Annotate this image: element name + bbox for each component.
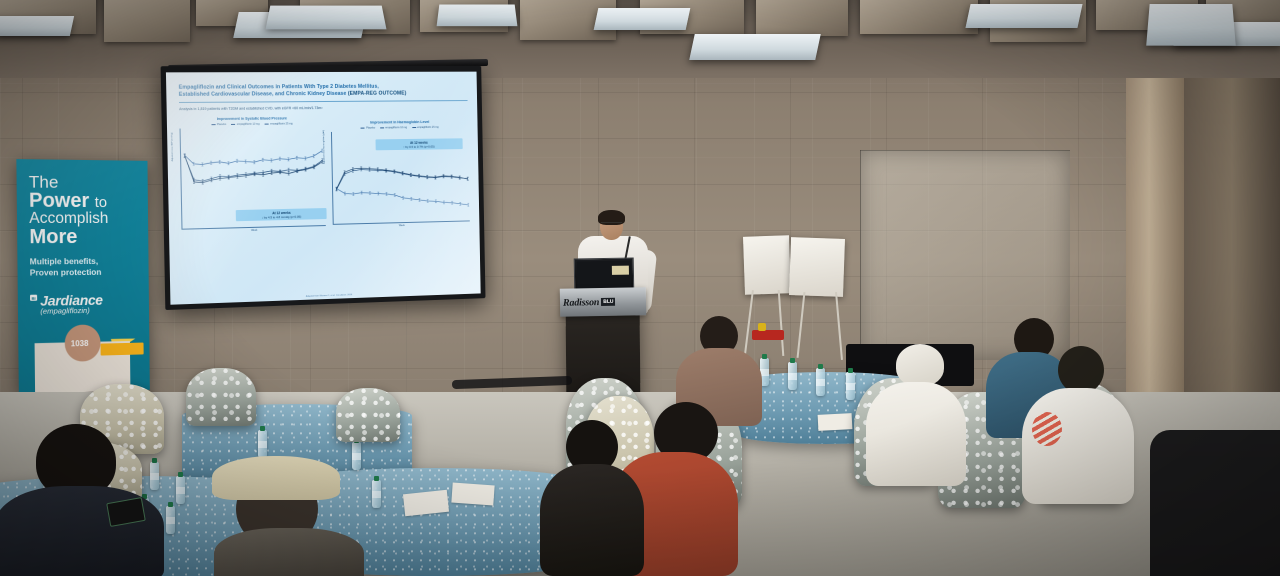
- chart-haemoglobin-level: Improvement in Haemoglobin Level Placebo…: [330, 115, 470, 230]
- chart-left-callout: At 12 weeks ↓ by 4.5 to 4.8 mmHg (p<0.05…: [236, 208, 327, 221]
- water-bottle: [352, 442, 361, 470]
- legend-item-placebo-2: Placebo: [366, 126, 375, 129]
- podium-brand-sign: Radisson BLU: [560, 287, 646, 316]
- chair: [186, 368, 256, 426]
- title-divider: [179, 100, 468, 103]
- slide-title-line1: Empagliflozin and Clinical Outcomes in P…: [179, 84, 379, 91]
- chart-right-callout: At 12 weeks ↑ by 0.6 to 0.7% (p<0.05): [375, 138, 462, 150]
- legend-item-empa10-2: empagliflozin 10 mg: [385, 126, 407, 129]
- ceiling-light-panel: [266, 6, 387, 30]
- water-bottle: [150, 462, 159, 490]
- conference-room-photo: Empagliflozin and Clinical Outcomes in P…: [0, 0, 1280, 576]
- banner-bi-logo: BI: [30, 295, 37, 301]
- notepad: [451, 483, 494, 506]
- chart-left-legend: Placebo empagliflozin 10 mg empagliflozi…: [179, 122, 323, 126]
- slide-charts: Improvement in Systolic Blood Pressure P…: [179, 115, 470, 234]
- slide-title-line2: Established Cardiovascular Disease, and …: [179, 91, 347, 98]
- banner-subline-2: Proven protection: [30, 266, 139, 278]
- chart-systolic-blood-pressure: Improvement in Systolic Blood Pressure P…: [179, 116, 325, 234]
- water-bottle: [816, 368, 825, 396]
- water-bottle: [258, 430, 267, 458]
- legend-item-empa25: empagliflozin 25 mg: [270, 122, 292, 125]
- foreground-shadow: [1150, 430, 1280, 576]
- chart-right-plot: Adjusted mean haemoglobin (g/dL) At 12 w…: [330, 130, 469, 224]
- banner-line-accomplish: Accomplish: [29, 211, 138, 227]
- banner-line-more: More: [29, 227, 138, 247]
- chart-left-ylabel: Adjusted mean SBP (mmHg): [171, 133, 174, 162]
- banner-number: 1038: [71, 339, 89, 348]
- slide-title-study: (EMPA-REG OUTCOME): [348, 91, 407, 97]
- banner-badge: [101, 343, 144, 356]
- water-bottle: [372, 480, 381, 508]
- legend-item-empa10: empagliflozin 10 mg: [237, 123, 260, 126]
- banner-line-power: Power: [29, 190, 89, 212]
- water-bottle: [788, 362, 797, 390]
- chart-left-heading: Improvement in Systolic Blood Pressure: [179, 116, 323, 121]
- chart-left-plot: Adjusted mean SBP (mmHg) At 12 weeks ↓ b…: [180, 127, 326, 230]
- jardiance-rollup-banner: The Power to Accomplish More Multiple be…: [16, 159, 149, 394]
- beige-cap: [212, 456, 340, 500]
- chart-right-heading: Improvement in Haemoglobin Level: [330, 120, 468, 125]
- chart-left-callout-text: ↓ by 4.5 to 4.8 mmHg (p<0.05): [239, 214, 324, 220]
- water-bottle: [166, 506, 175, 534]
- notepad: [818, 413, 853, 431]
- chart-right-callout-text: ↑ by 0.6 to 0.7% (p<0.05): [378, 144, 459, 149]
- blu-badge: BLU: [601, 298, 615, 306]
- water-bottle: [176, 476, 185, 504]
- legend-item-placebo: Placebo: [217, 123, 226, 126]
- projection-screen: Empagliflozin and Clinical Outcomes in P…: [161, 66, 486, 310]
- banner-line-the: The: [29, 173, 138, 191]
- slide-subtitle: Analysis in 1,819 patients with T2DM and…: [179, 105, 468, 112]
- chair: [336, 388, 400, 442]
- projected-slide: Empagliflozin and Clinical Outcomes in P…: [166, 72, 481, 305]
- ceiling-light-panel-2: [437, 5, 518, 27]
- slide-title: Empagliflozin and Clinical Outcomes in P…: [179, 83, 468, 99]
- speaker-glasses: [601, 222, 622, 227]
- water-bottle: [846, 372, 855, 400]
- chart-right-legend: Placebo empagliflozin 10 mg empagliflozi…: [330, 126, 468, 130]
- flower-garland: [1032, 412, 1062, 446]
- radisson-wordmark: Radisson: [563, 297, 599, 309]
- flipchart-easel-right: [790, 238, 860, 360]
- ceiling-light-panel-3: [1146, 4, 1236, 46]
- chart-right-ylabel: Adjusted mean haemoglobin (g/dL): [322, 130, 325, 164]
- notepad: [403, 490, 449, 516]
- fire-extinguisher: [752, 330, 784, 340]
- banner-line-to: to: [95, 194, 108, 211]
- legend-item-empa25-2: empagliflozin 25 mg: [417, 126, 438, 129]
